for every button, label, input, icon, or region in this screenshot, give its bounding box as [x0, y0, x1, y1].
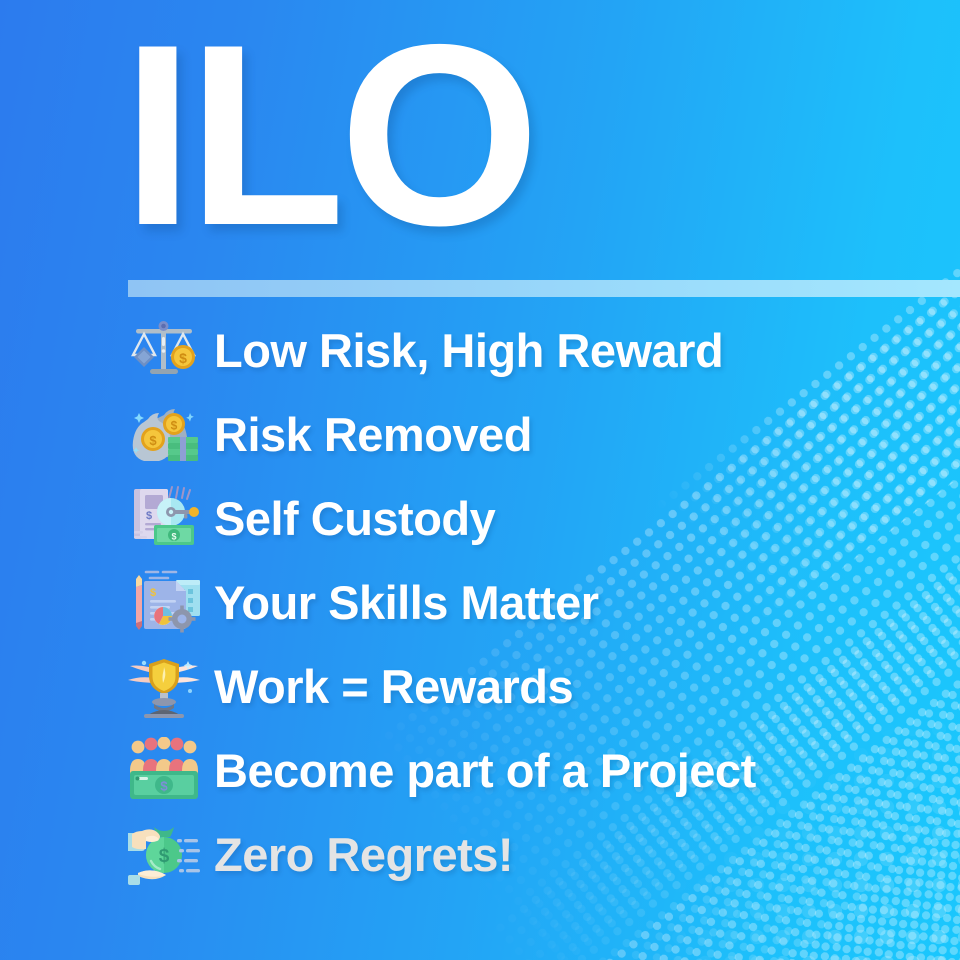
list-item-label: Your Skills Matter — [214, 575, 599, 630]
resume-skills-gear-icon: $ — [118, 562, 210, 642]
list-item-label: Self Custody — [214, 491, 495, 546]
money-bag-cash-icon: $ $ — [118, 394, 210, 474]
list-item-label: Risk Removed — [214, 407, 532, 462]
document-key-cash-icon: $ — [118, 478, 210, 558]
svg-text:$: $ — [160, 779, 168, 794]
svg-text:$: $ — [171, 419, 178, 433]
list-item-label: Become part of a Project — [214, 743, 756, 798]
svg-text:$: $ — [179, 350, 187, 366]
list-item-label: Work = Rewards — [214, 659, 573, 714]
list-item: $ — [118, 476, 960, 560]
list-item: Work = Rewards — [118, 644, 960, 728]
list-item: $ — [118, 812, 960, 896]
balance-scale-coin-icon: $ — [118, 310, 210, 390]
title-divider — [128, 280, 960, 297]
svg-text:$: $ — [171, 532, 176, 542]
list-item: $ — [118, 560, 960, 644]
list-item: $ Low Risk, High Reward — [118, 308, 960, 392]
hand-giving-money-bag-icon: $ — [118, 814, 210, 894]
benefits-list: $ Low Risk, High Reward $ $ — [118, 308, 960, 896]
svg-text:$: $ — [146, 510, 152, 522]
ilo-benefits-poster: ILO $ — [0, 0, 960, 960]
page-title: ILO — [122, 6, 534, 264]
list-item-label: Low Risk, High Reward — [214, 323, 723, 378]
svg-text:$: $ — [159, 846, 170, 867]
list-item: $ $ Risk Removed — [118, 392, 960, 476]
list-item: $ Become part of a Project — [118, 728, 960, 812]
svg-text:$: $ — [149, 433, 157, 448]
winged-shield-trophy-icon — [118, 646, 210, 726]
list-item-label: Zero Regrets! — [214, 827, 513, 882]
svg-text:$: $ — [150, 587, 156, 599]
people-group-banknote-icon: $ — [118, 730, 210, 810]
